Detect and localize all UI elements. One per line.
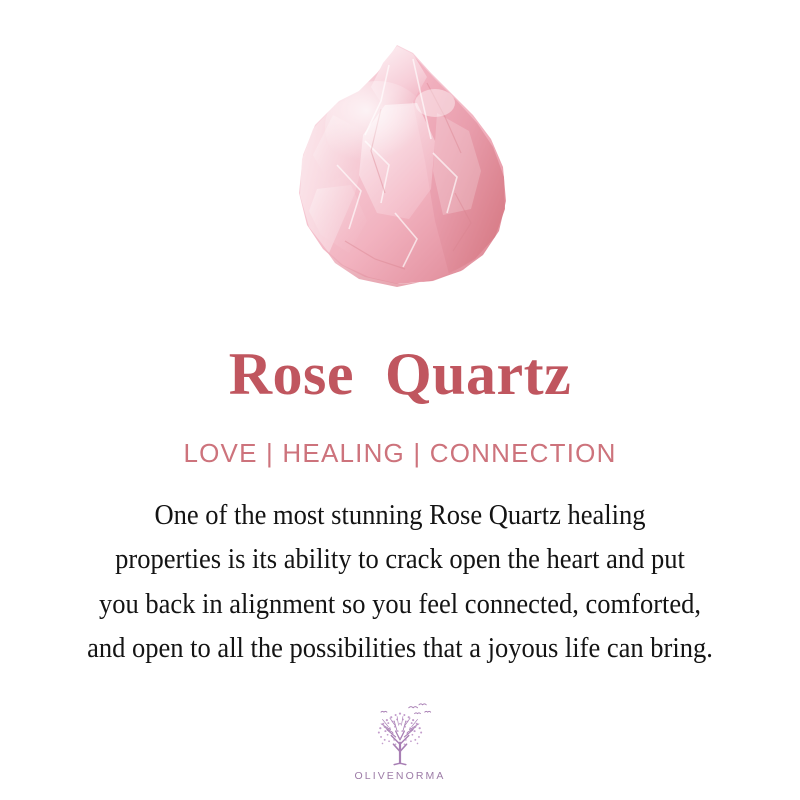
description-text: One of the most stunning Rose Quartz hea…	[20, 466, 780, 672]
bird-icons	[381, 704, 431, 714]
brand-logo: OLIVENORMA	[0, 699, 800, 782]
crystal-highlight	[325, 81, 429, 173]
tree-of-life-icon	[363, 699, 437, 769]
product-image-area	[0, 0, 800, 300]
crystal-highlight-small	[415, 89, 455, 117]
description-line: you back in alignment so you feel connec…	[47, 583, 754, 627]
rose-quartz-info-card: Rose Quartz LOVE | HEALING | CONNECTION …	[0, 0, 800, 800]
description-line: properties is its ability to crack open …	[47, 538, 754, 582]
keyword-subtitle: LOVE | HEALING | CONNECTION	[183, 404, 616, 466]
description-line: and open to all the possibilities that a…	[47, 627, 754, 671]
rose-quartz-crystal-image	[285, 43, 515, 288]
page-title: Rose Quartz	[229, 300, 572, 404]
description-line: One of the most stunning Rose Quartz hea…	[47, 494, 754, 538]
brand-name: OLIVENORMA	[354, 770, 445, 782]
